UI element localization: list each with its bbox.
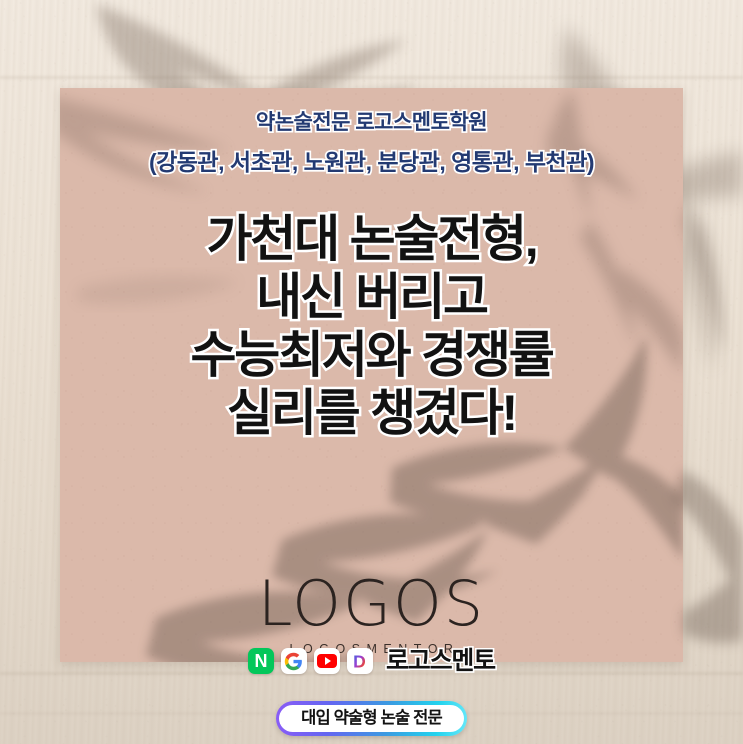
card-header-line-2: (강동관, 서초관, 노원관, 분당관, 영통관, 부천관) [149,150,594,174]
wood-plank-seam [0,76,743,79]
footer-social-row: N [0,648,743,674]
card-header-line-1: 약논술전문 로고스멘토학원 [256,112,487,134]
headline-line: 수능최저와 경쟁률 [190,326,552,384]
daum-d-glyph: D [349,651,370,672]
svg-text:D: D [354,651,367,671]
headline-line: 내신 버리고 [190,268,552,326]
promo-inner-card: 약논술전문 로고스멘토학원 (강동관, 서초관, 노원관, 분당관, 영통관, … [60,88,683,662]
logos-brand-block: LOGOS LOGOSMENTOR [60,573,683,656]
youtube-icon[interactable] [314,648,340,674]
google-icon[interactable] [281,648,307,674]
headline-line: 가천대 논술전형, [190,210,552,268]
naver-icon[interactable]: N [248,648,274,674]
naver-icon-letter: N [254,652,267,670]
footer-brand-text: 로고스멘토 [386,649,495,674]
logos-wordmark: LOGOS [60,573,683,635]
promo-card-stage: 약논술전문 로고스멘토학원 (강동관, 서초관, 노원관, 분당관, 영통관, … [0,0,743,744]
headline-line: 실리를 챙겼다! [190,384,552,442]
youtube-play-badge [317,654,337,668]
badge-container: 대입 약술형 논술 전문 [0,701,743,736]
gradient-badge-border: 대입 약술형 논술 전문 [276,701,468,736]
google-g-glyph [284,652,303,671]
daum-icon[interactable]: D [347,648,373,674]
headline: 가천대 논술전형, 내신 버리고 수능최저와 경쟁률 실리를 챙겼다! [190,210,552,442]
youtube-play-triangle [325,657,331,665]
badge-label: 대입 약술형 논술 전문 [279,705,464,733]
leaf-shadow-right-strip [680,200,724,352]
